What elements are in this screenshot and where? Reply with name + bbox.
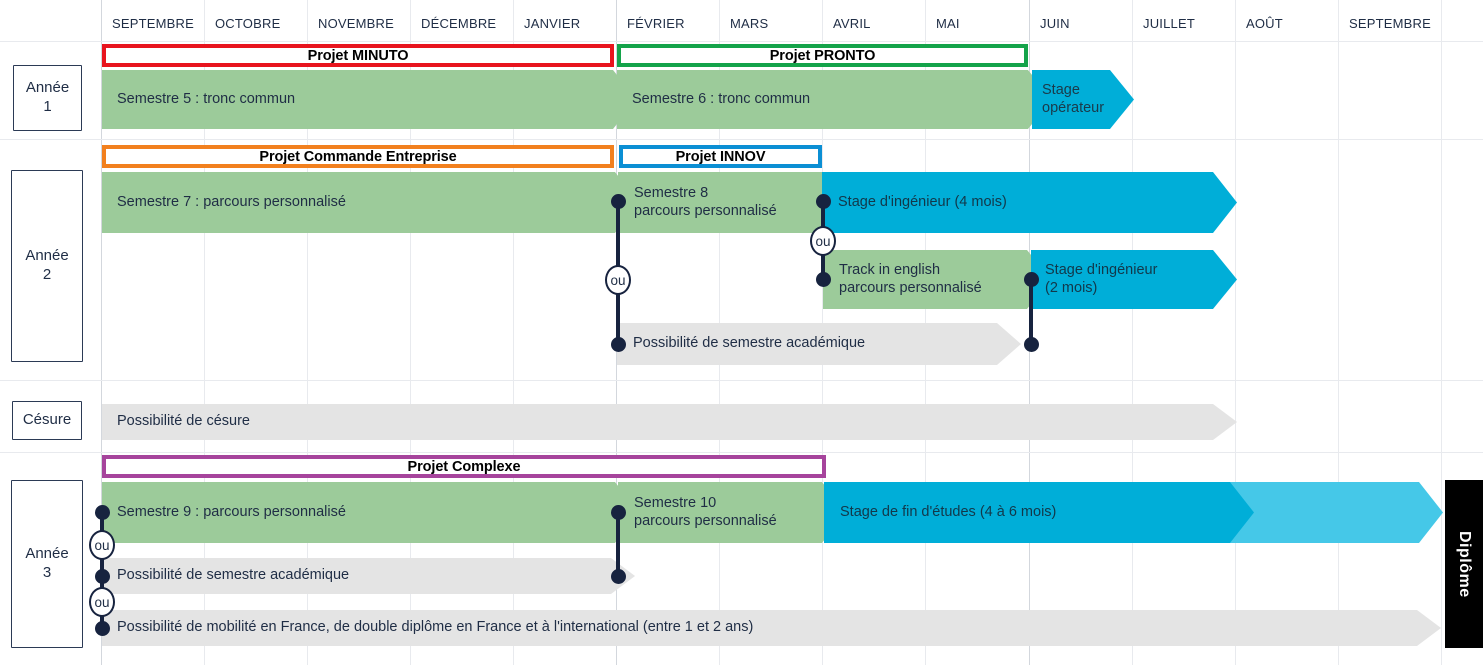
connector-dot-stage-ingenieur-4-mois	[816, 194, 831, 209]
bar-stage-ingenieur-4-mois: Stage d'ingénieur (4 mois)	[822, 172, 1237, 233]
year-label-annee-1: Année 1	[13, 65, 82, 131]
connector-or-a2-mid: ou	[810, 226, 836, 256]
month-header-mai: MAI	[925, 16, 960, 36]
year-label-annee-3: Année 3	[11, 480, 83, 648]
bar-stage-operateur: Stage opérateur	[1032, 70, 1134, 129]
diploma-badge: Diplôme	[1445, 480, 1483, 648]
project-banner-commande-entreprise: Projet Commande Entreprise	[102, 145, 614, 168]
diploma-label: Diplôme	[1455, 531, 1473, 598]
row-divider	[0, 139, 1483, 140]
bar-semestre-8: Semestre 8 parcours personnalisé	[618, 172, 846, 233]
connector-dot-semestre-10	[611, 505, 626, 520]
month-header-janvier: JANVIER	[513, 16, 580, 36]
timeline-root: SEPTEMBRE OCTOBRE NOVEMBRE DÉCEMBRE JANV…	[0, 0, 1483, 665]
connector-dot-semestre-academique-a2-end	[1024, 337, 1039, 352]
connector-dot-semestre-9	[95, 505, 110, 520]
month-header-novembre: NOVEMBRE	[307, 16, 394, 36]
year-label-cesure: Césure	[12, 401, 82, 440]
bar-track-in-english: Track in english parcours personnalisé	[823, 250, 1051, 309]
bar-stage-ingenieur-2-mois: Stage d'ingénieur (2 mois)	[1031, 250, 1237, 309]
month-header-fevrier: FÉVRIER	[616, 16, 685, 36]
month-header-juin: JUIN	[1029, 16, 1070, 36]
connector-or-a3-upper: ou	[89, 530, 115, 560]
bar-semestre-9: Semestre 9 : parcours personnalisé	[102, 482, 639, 543]
bar-semestre-7: Semestre 7 : parcours personnalisé	[102, 172, 639, 233]
project-banner-complexe: Projet Complexe	[102, 455, 826, 478]
bar-stage-fin-etudes: Stage de fin d'études (4 à 6 mois)	[824, 482, 1254, 543]
month-header-aout: AOÛT	[1235, 16, 1283, 36]
month-header-septembre: SEPTEMBRE	[101, 16, 194, 36]
project-banner-innov: Projet INNOV	[619, 145, 822, 168]
connector-or-a3-lower: ou	[89, 587, 115, 617]
connector-dot-stage-ingenieur-2-mois	[1024, 272, 1039, 287]
connector-dot-mobilite	[95, 621, 110, 636]
connector-dot-semestre-8	[611, 194, 626, 209]
month-header-octobre: OCTOBRE	[204, 16, 280, 36]
month-header-avril: AVRIL	[822, 16, 871, 36]
gridline	[1441, 0, 1442, 665]
connector-dot-semestre-academique-a3	[95, 569, 110, 584]
month-header-mars: MARS	[719, 16, 768, 36]
bar-semestre-10: Semestre 10 parcours personnalisé	[618, 482, 846, 543]
project-banner-pronto: Projet PRONTO	[617, 44, 1028, 67]
project-banner-minuto: Projet MINUTO	[102, 44, 614, 67]
bar-semestre-academique-annee-2: Possibilité de semestre académique	[617, 323, 1021, 365]
month-header-juillet: JUILLET	[1132, 16, 1195, 36]
bar-semestre-academique-annee-3: Possibilité de semestre académique	[102, 558, 635, 594]
month-header-septembre-2: SEPTEMBRE	[1338, 16, 1431, 36]
gridline	[1235, 0, 1236, 665]
row-divider	[0, 452, 1483, 453]
connector-line-a2-right	[1029, 278, 1033, 346]
bar-semestre-5: Semestre 5 : tronc commun	[102, 70, 637, 129]
gridline	[1338, 0, 1339, 665]
connector-dot-semestre-academique-a3-end	[611, 569, 626, 584]
month-header-decembre: DÉCEMBRE	[410, 16, 496, 36]
row-divider	[0, 380, 1483, 381]
connector-or-a2-left: ou	[605, 265, 631, 295]
bar-mobilite-double-diplome: Possibilité de mobilité en France, de do…	[102, 610, 1441, 646]
bar-semestre-6: Semestre 6 : tronc commun	[617, 70, 1052, 129]
bar-possibilite-cesure: Possibilité de césure	[102, 404, 1237, 440]
connector-dot-semestre-academique-a2	[611, 337, 626, 352]
connector-dot-track-in-english	[816, 272, 831, 287]
year-label-annee-2: Année 2	[11, 170, 83, 362]
row-divider	[0, 41, 1483, 42]
